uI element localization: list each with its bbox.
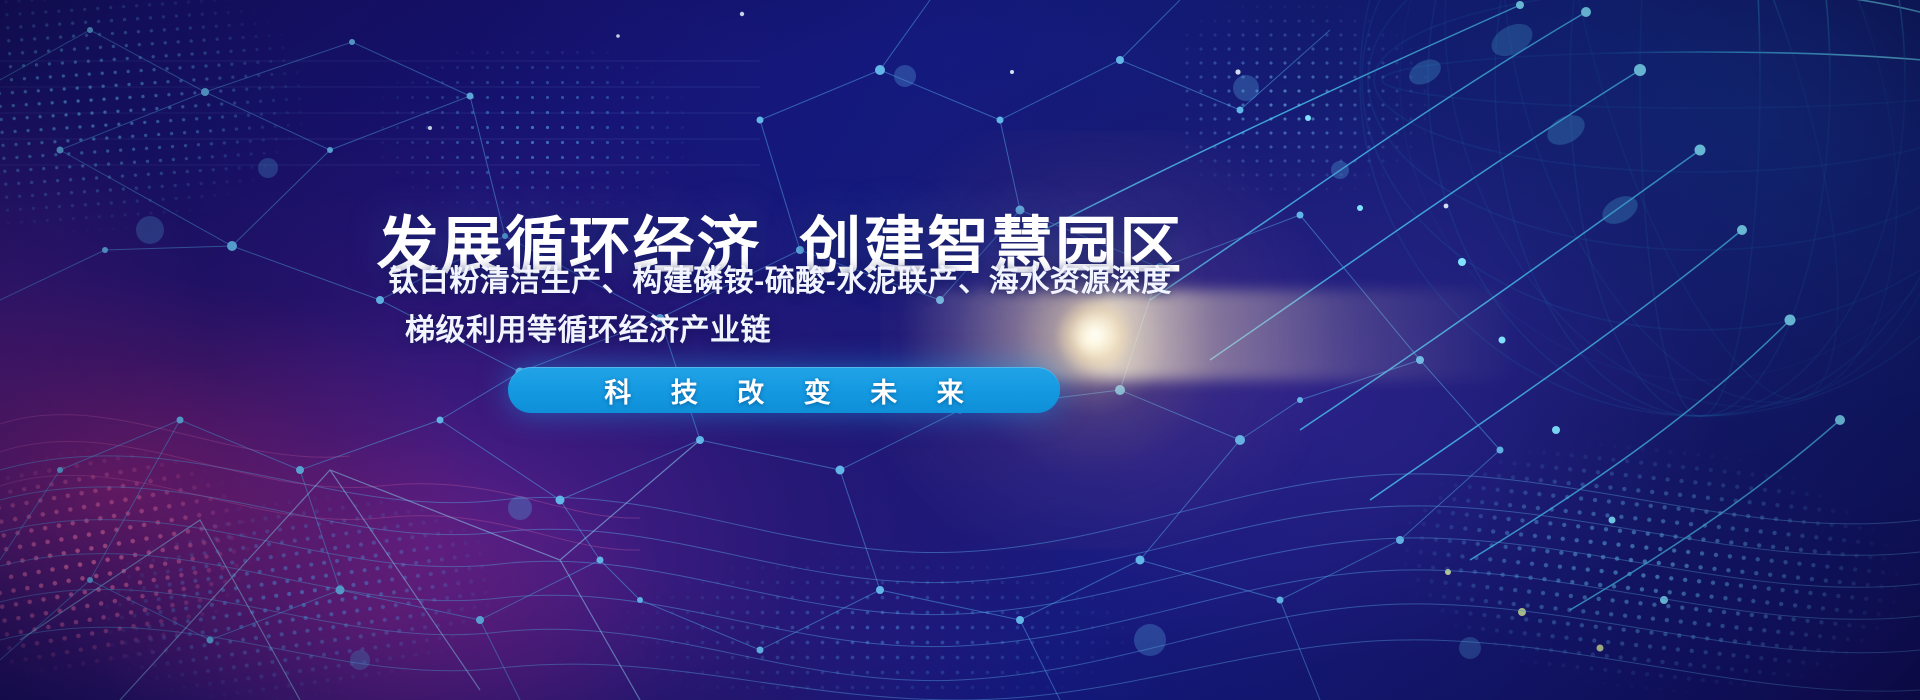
cta-button-label: 科 技 改 变 未 来 [588,371,980,410]
banner-content: 发展循环经济 创建智慧园区 钛白粉清洁生产、构建磷铵-硫酸-水泥联产、海水资源深… [0,0,1920,700]
banner-subtitle-line-1: 钛白粉清洁生产、构建磷铵-硫酸-水泥联产、海水资源深度 [0,258,1560,307]
banner-subtitle-line-2: 梯级利用等循环经济产业链 [0,307,1560,356]
cta-button[interactable]: 科 技 改 变 未 来 [508,367,1060,413]
banner-subtitle: 钛白粉清洁生产、构建磷铵-硫酸-水泥联产、海水资源深度 梯级利用等循环经济产业链 [0,258,1560,355]
banner-hero: 发展循环经济 创建智慧园区 钛白粉清洁生产、构建磷铵-硫酸-水泥联产、海水资源深… [0,0,1920,700]
